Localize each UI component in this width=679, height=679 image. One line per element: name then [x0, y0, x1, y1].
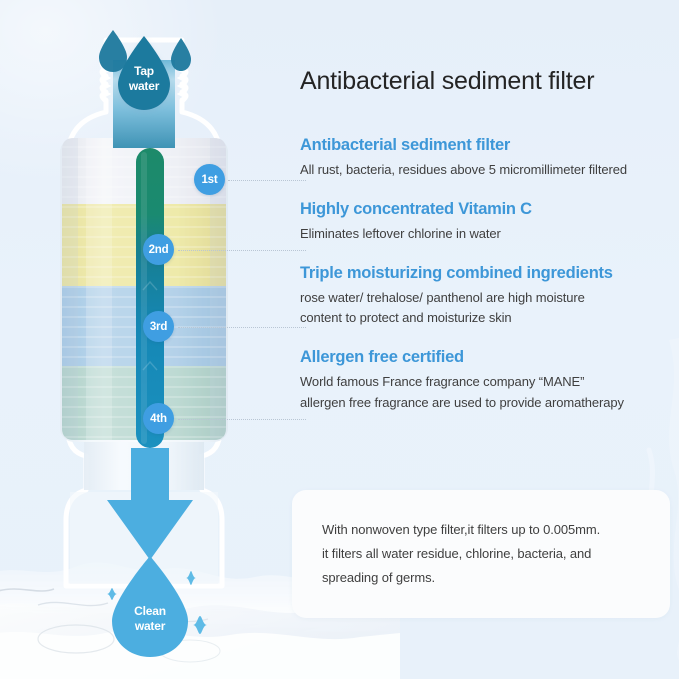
filter-diagram: Tap water Clean water 1st 2nd 3rd 4th: [0, 0, 290, 679]
feature-3-description: rose water/ trehalose/ panthenol are hig…: [300, 288, 679, 309]
feature-4-description: World famous France fragrance company “M…: [300, 372, 679, 393]
summary-line-3: spreading of germs.: [322, 566, 640, 590]
feature-item-2: Highly concentrated Vitamin C Eliminates…: [300, 198, 679, 245]
infographic-root: Tap water Clean water 1st 2nd 3rd 4th An…: [0, 0, 679, 679]
badge-2nd-label: 2nd: [149, 244, 169, 256]
page-title: Antibacterial sediment filter: [300, 66, 679, 96]
badge-2nd[interactable]: 2nd: [143, 234, 174, 265]
feature-2-description: Eliminates leftover chlorine in water: [300, 224, 679, 245]
tap-water-droplet-small-left-icon: [99, 30, 127, 72]
outlet-stem: [131, 448, 169, 500]
badge-1st[interactable]: 1st: [194, 164, 225, 195]
badge-3rd-label: 3rd: [150, 321, 167, 333]
feature-1-description: All rust, bacteria, residues above 5 mic…: [300, 160, 679, 181]
filter-diagram-svg: [0, 0, 290, 679]
content-column: Antibacterial sediment filter Antibacter…: [300, 0, 679, 679]
feature-item-1: Antibacterial sediment filter All rust, …: [300, 134, 679, 181]
badge-3rd[interactable]: 3rd: [143, 311, 174, 342]
feature-2-title: Highly concentrated Vitamin C: [300, 198, 679, 220]
summary-line-2: it filters all water residue, chlorine, …: [322, 542, 640, 566]
feature-item-3: Triple moisturizing combined ingredients…: [300, 262, 679, 329]
feature-3-title: Triple moisturizing combined ingredients: [300, 262, 679, 284]
badge-4th-label: 4th: [150, 413, 167, 425]
summary-card: With nonwoven type filter,it filters up …: [292, 490, 670, 618]
feature-4-title: Allergen free certified: [300, 346, 679, 368]
summary-line-1: With nonwoven type filter,it filters up …: [322, 518, 640, 542]
badge-4th[interactable]: 4th: [143, 403, 174, 434]
feature-1-title: Antibacterial sediment filter: [300, 134, 679, 156]
badge-1st-label: 1st: [201, 174, 217, 186]
feature-3-description-line2: content to protect and moisturize skin: [300, 308, 679, 329]
feature-item-4: Allergen free certified World famous Fra…: [300, 346, 679, 413]
feature-4-description-line2: allergen free fragrance are used to prov…: [300, 393, 679, 414]
tap-water-droplet-small-right-icon: [171, 38, 191, 71]
tap-water-droplet-icon: [118, 36, 170, 110]
